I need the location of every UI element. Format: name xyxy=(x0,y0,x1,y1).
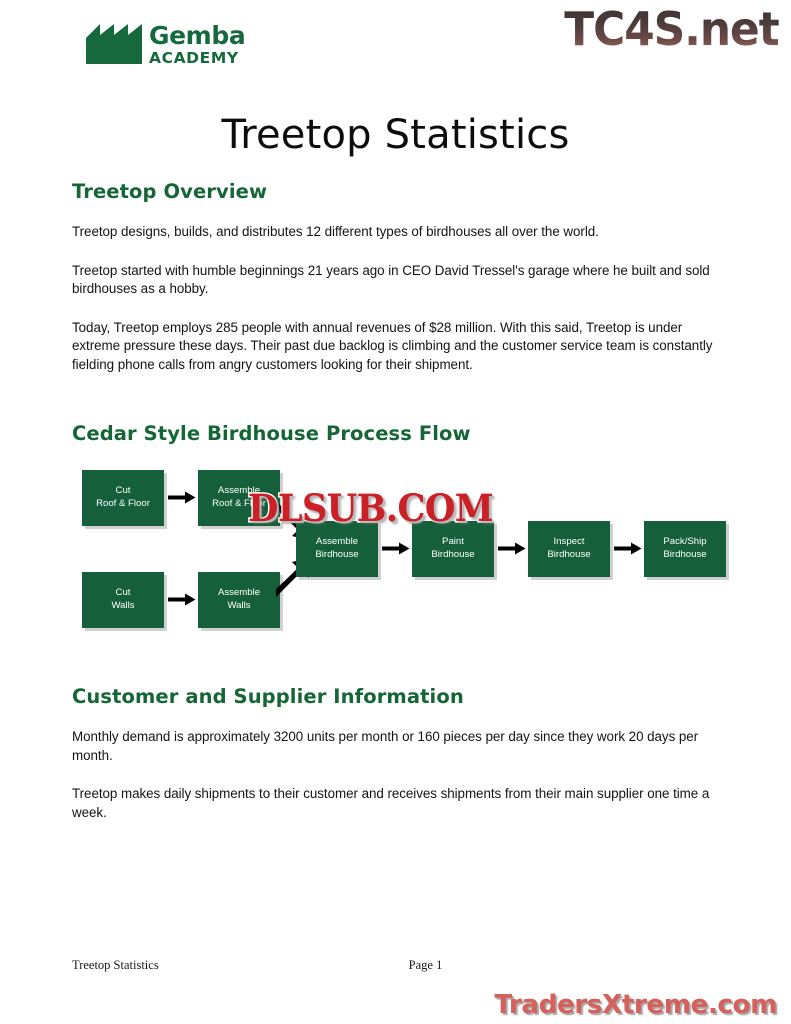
flow-box-line2: Birdhouse xyxy=(547,549,590,562)
flow-arrow-right-4 xyxy=(498,542,526,555)
section-heading-customer-supplier: Customer and Supplier Information xyxy=(72,685,722,708)
flow-box-line2: Birdhouse xyxy=(431,549,474,562)
flow-box-cut-roof-floor: Cut Roof & Floor xyxy=(82,470,164,526)
footer-page-number: Page 1 xyxy=(72,958,719,973)
logo-name-bottom: ACADEMY xyxy=(149,51,245,67)
flow-box-line1: Assemble xyxy=(218,587,260,600)
flow-box-assemble-walls: Assemble Walls xyxy=(198,572,280,628)
flow-box-line2: Birdhouse xyxy=(663,549,706,562)
gemba-academy-logo: Gemba ACADEMY xyxy=(86,22,245,67)
flow-box-line1: Pack/Ship xyxy=(663,536,706,549)
overview-paragraph-2: Treetop started with humble beginnings 2… xyxy=(72,262,722,299)
flow-box-line1: Paint xyxy=(431,536,474,549)
logo-wordmark: Gemba ACADEMY xyxy=(149,23,245,67)
flow-box-line1: Assemble xyxy=(315,536,358,549)
page-title: Treetop Statistics xyxy=(0,112,791,158)
overview-paragraph-1: Treetop designs, builds, and distributes… xyxy=(72,223,722,242)
flow-box-line2: Walls xyxy=(111,600,134,613)
customer-paragraph-1: Monthly demand is approximately 3200 uni… xyxy=(72,728,722,765)
logo-name-top: Gemba xyxy=(149,23,245,48)
flow-arrow-right-3 xyxy=(382,542,410,555)
factory-icon xyxy=(86,24,142,64)
flow-arrow-right-1 xyxy=(168,491,196,504)
flow-box-pack-ship-birdhouse: Pack/Ship Birdhouse xyxy=(644,521,726,577)
document-page: Gemba ACADEMY TC4S.net Treetop Statistic… xyxy=(0,0,791,1024)
flow-box-line2: Walls xyxy=(218,600,260,613)
flow-box-line2: Roof & Floor xyxy=(96,498,150,511)
dlsub-watermark: DLSUB.COM xyxy=(248,487,493,530)
customer-paragraph-2: Treetop makes daily shipments to their c… xyxy=(72,785,722,822)
flow-box-cut-walls: Cut Walls xyxy=(82,572,164,628)
flow-box-line1: Cut xyxy=(96,485,150,498)
overview-paragraph-3: Today, Treetop employs 285 people with a… xyxy=(72,319,722,375)
section-heading-process-flow: Cedar Style Birdhouse Process Flow xyxy=(72,422,722,445)
flow-box-line1: Inspect xyxy=(547,536,590,549)
flow-arrow-right-5 xyxy=(614,542,642,555)
section-spacer xyxy=(72,394,722,422)
section-heading-overview: Treetop Overview xyxy=(72,180,722,203)
section-spacer xyxy=(72,655,722,685)
tradersxtreme-watermark: TradersXtreme.com xyxy=(494,990,777,1020)
flow-box-line1: Cut xyxy=(111,587,134,600)
flow-arrow-right-2 xyxy=(168,593,196,606)
flow-box-line2: Birdhouse xyxy=(315,549,358,562)
flow-box-inspect-birdhouse: Inspect Birdhouse xyxy=(528,521,610,577)
tc4s-watermark: TC4S.net xyxy=(565,2,779,56)
